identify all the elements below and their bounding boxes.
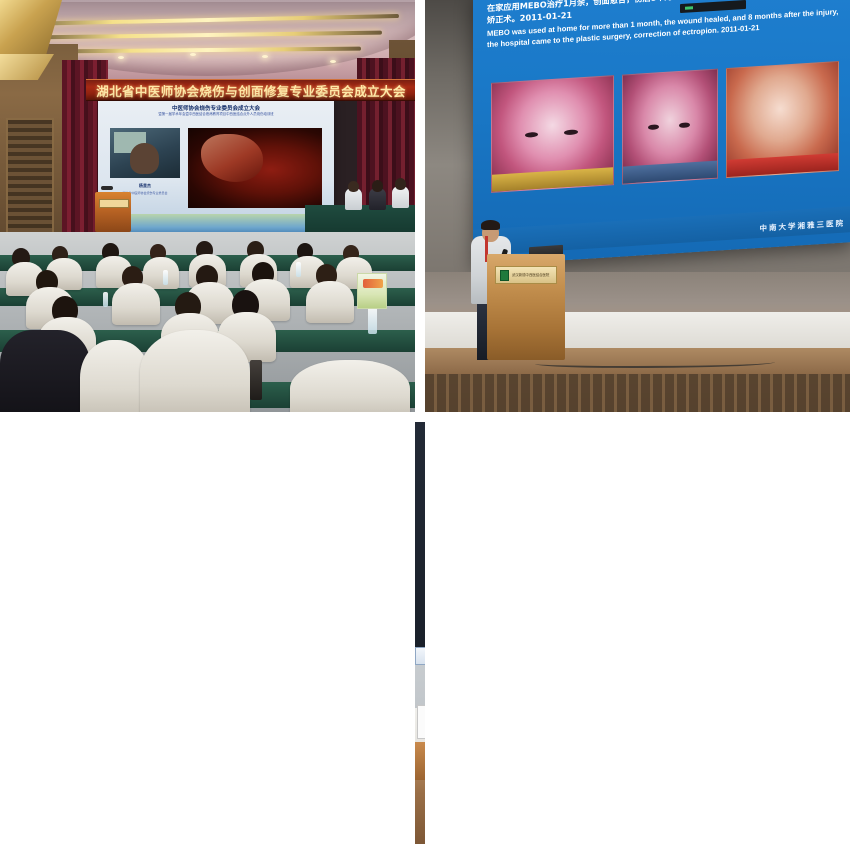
grid-gutter-vertical	[425, 422, 850, 844]
speaker-hair	[481, 220, 500, 230]
projection-screen: 在家应用MEBO治疗1月余，创面愈合，伤后8个月来院整形，行睑外翻 矫正术。20…	[473, 0, 850, 266]
slide-title: 中医师协会烧伤专业委员会成立大会	[98, 104, 334, 112]
audience-foreground-person	[0, 330, 90, 412]
slide-photo-row	[491, 61, 839, 193]
eye	[648, 124, 658, 130]
slide-patient-photo-2	[622, 69, 718, 185]
stage-banner-text: 湖北省中医师协会烧伤与创面修复专业委员会成立大会	[96, 81, 406, 100]
photo-top-right[interactable]: 在家应用MEBO治疗1月余，创面愈合，伤后8个月来院整形，行睑外翻 矫正术。20…	[425, 0, 850, 412]
hospital-logo-icon	[500, 270, 509, 281]
stage-banner: 湖北省中医师协会烧伤与创面修复专业委员会成立大会	[86, 79, 415, 101]
slide-subtitle: 暨第一届学术年会暨中西医结合疮疡教育项目中西医结合点外人员烧伤培训班	[98, 112, 334, 117]
slide-patient-photo-1	[491, 75, 614, 193]
grid-gutter-horizontal	[0, 422, 415, 844]
slide-patient-photo-3	[726, 61, 839, 178]
collar	[727, 153, 838, 177]
downlight	[118, 56, 124, 59]
photo-grid: 湖北省中医师协会烧伤与创面修复专业委员会成立大会 中医师协会烧伤专业委员会成立大…	[0, 0, 850, 844]
podium-plaque: 武汉新德中西医结合医院	[495, 266, 557, 284]
eye	[525, 132, 538, 138]
water-bottle	[163, 270, 168, 285]
slide-speaker-name: 杨显杰	[110, 183, 180, 189]
water-bottle	[250, 360, 262, 400]
wooden-post	[415, 742, 425, 780]
downlight	[190, 53, 196, 56]
water-bottle	[296, 262, 301, 277]
audience-chair	[140, 330, 250, 412]
downlight	[330, 60, 336, 63]
audience-chair	[306, 281, 354, 323]
grid-gutter-horizontal	[415, 412, 425, 422]
wall-lattice-panel	[425, 374, 850, 412]
seated-person-head	[372, 180, 383, 192]
water-bottle	[368, 306, 377, 334]
seated-person-head	[395, 178, 406, 190]
side-signage	[417, 705, 425, 739]
photo-top-left[interactable]: 湖北省中医师协会烧伤与创面修复专业委员会成立大会 中医师协会烧伤专业委员会成立大…	[0, 0, 415, 412]
eye	[679, 122, 689, 128]
podium: 武汉新德中西医结合医院	[487, 254, 565, 360]
grid-gutter-cross	[425, 412, 850, 422]
grid-gutter-vertical	[0, 412, 415, 422]
lectern	[95, 192, 131, 232]
podium-plaque-text: 武汉新德中西医结合医院	[512, 273, 549, 277]
audience-chair	[143, 257, 179, 289]
slide-portrait-photo	[110, 128, 180, 178]
audience-chair	[112, 283, 160, 325]
downlight	[262, 55, 268, 58]
water-bottle	[103, 292, 108, 307]
collar	[492, 167, 613, 192]
grid-gutter-vertical	[415, 0, 425, 412]
left-dark-wall	[415, 422, 425, 652]
eye	[564, 129, 577, 135]
conference-tote-bag	[357, 273, 387, 309]
seated-person-head	[348, 181, 359, 192]
photo-bottom-left[interactable]: 糖尿病足溃疡的现状 • 全球每年新增糖尿病足患者400多万 • 病史8年以上的糖…	[415, 422, 425, 844]
collar	[623, 160, 717, 183]
lectern-microphone	[101, 186, 113, 190]
slide-clinical-photo	[188, 128, 322, 208]
slide-text-block: 在家应用MEBO治疗1月余，创面愈合，伤后8个月来院整形，行睑外翻 矫正术。20…	[487, 0, 839, 50]
nameplate: 丁顺华	[415, 647, 425, 665]
audience-chair	[290, 360, 410, 412]
projection-screen: 中医师协会烧伤专业委员会成立大会 暨第一届学术年会暨中西医结合疮疡教育项目中西医…	[98, 101, 334, 238]
